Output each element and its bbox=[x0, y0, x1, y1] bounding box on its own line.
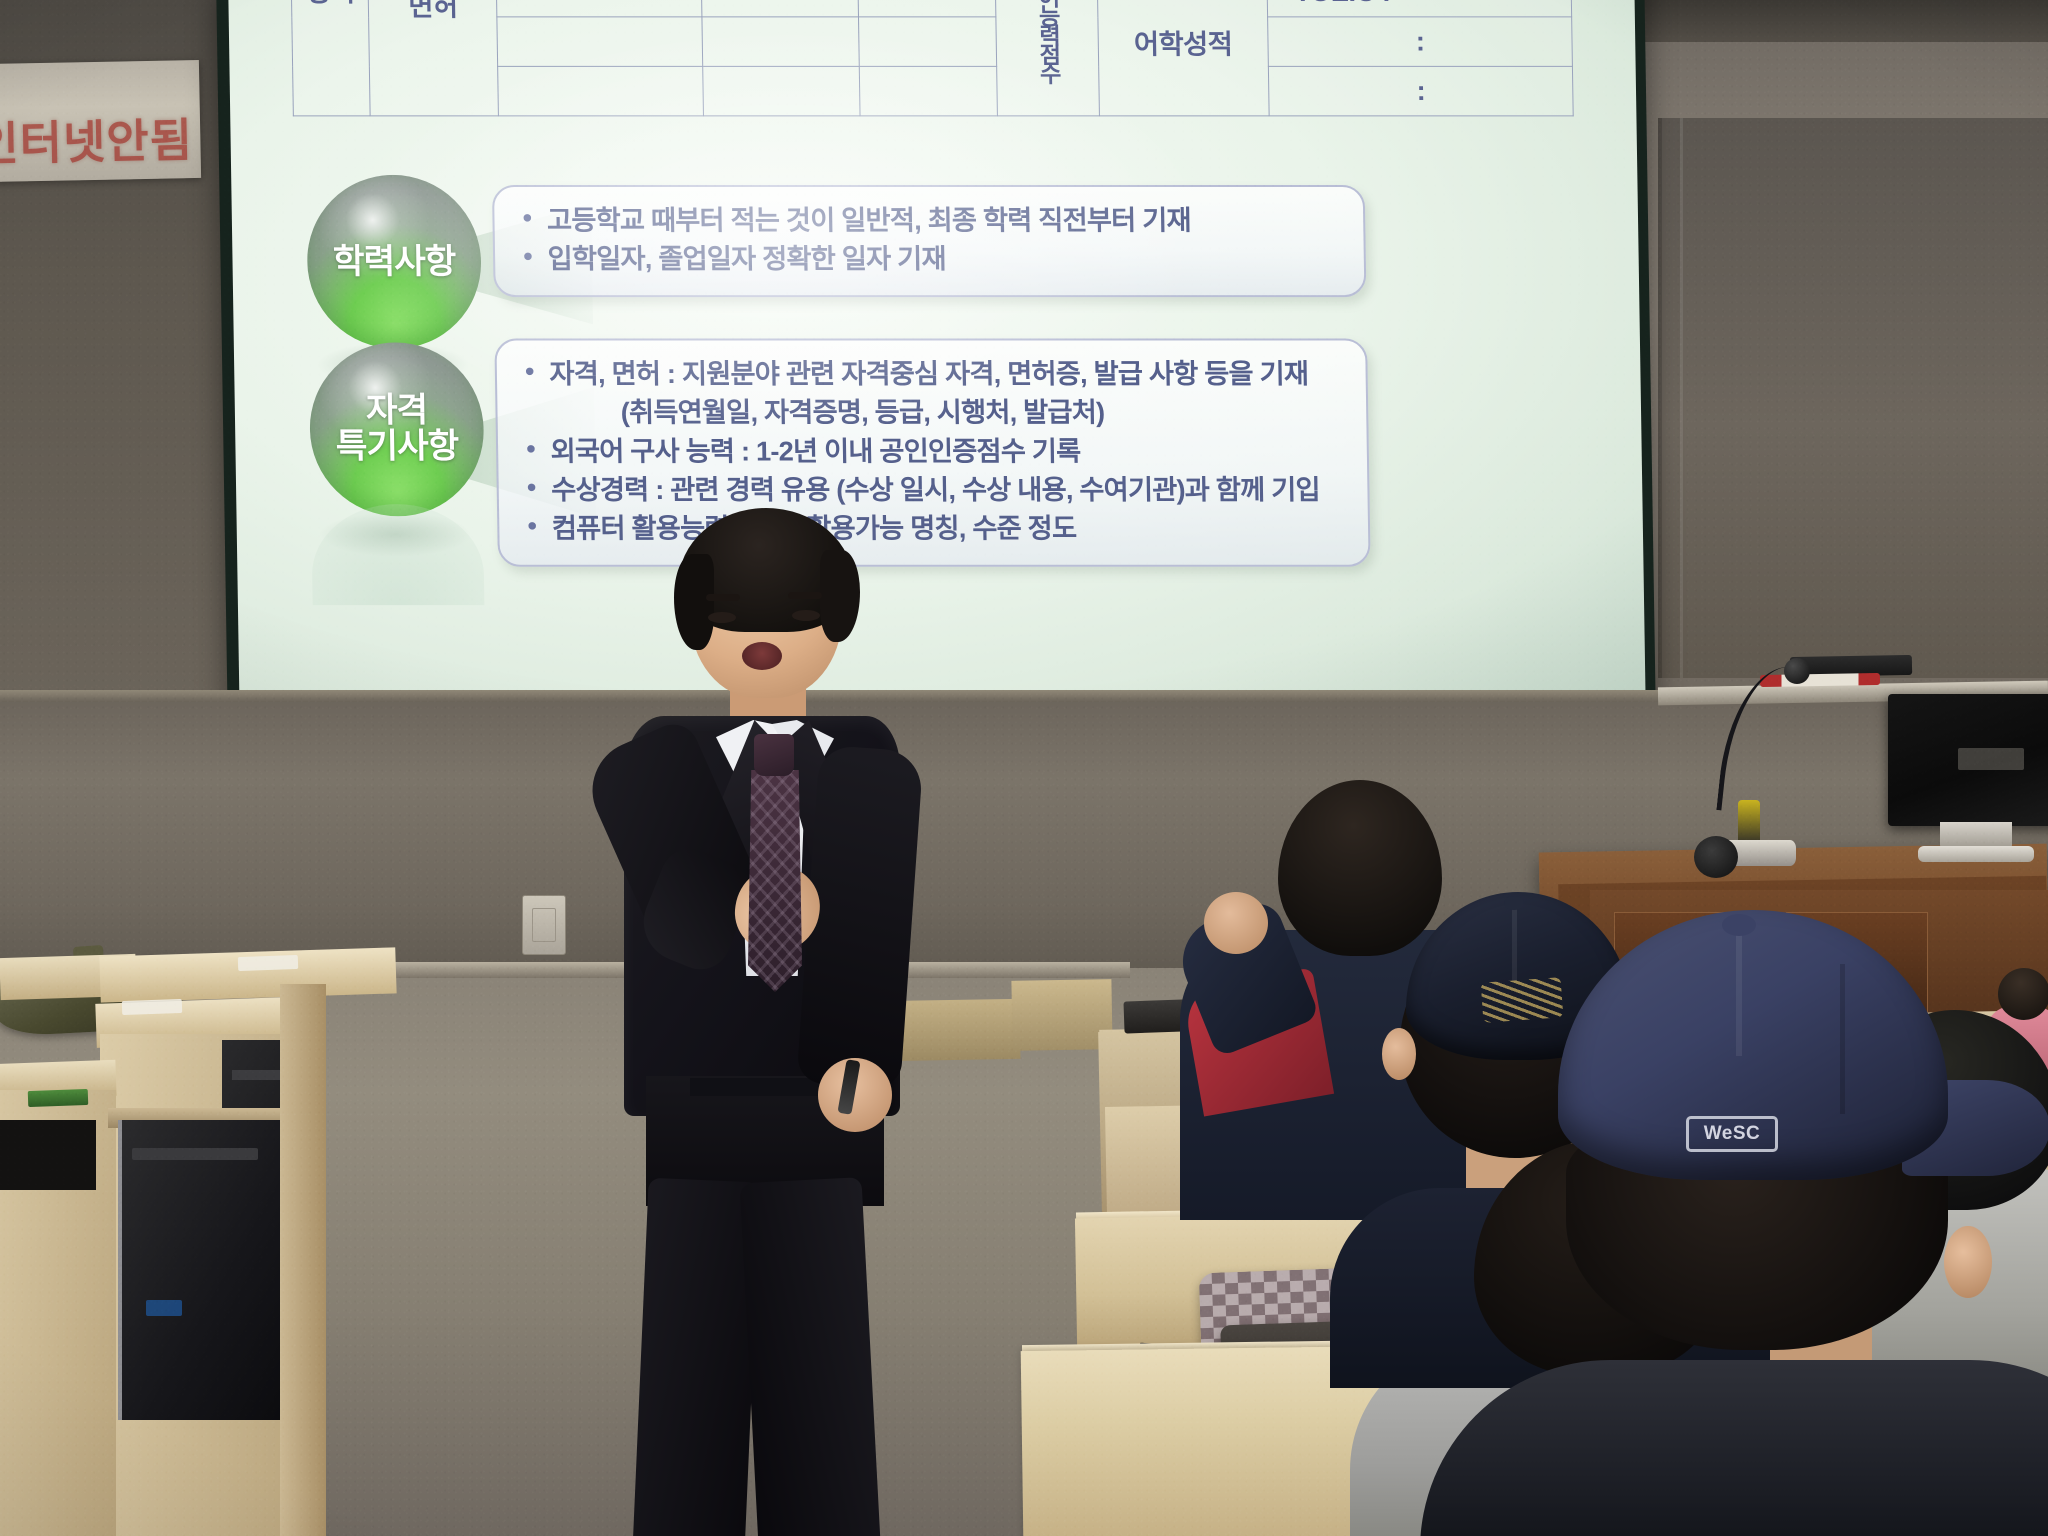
bubble-education-history-label: 학력사항 bbox=[333, 243, 456, 281]
desk-green-sticker bbox=[28, 1089, 89, 1107]
list-item: 고등학교 때부터 적는 것이 일반적, 최종 학력 직전부터 기재 bbox=[520, 201, 1341, 240]
table-cell-qual-1 bbox=[497, 0, 702, 17]
table-cell-date-1 bbox=[701, 0, 859, 17]
cap-brand-patch: WeSC bbox=[1686, 1116, 1778, 1152]
cap-brand-patch-label: WeSC bbox=[1704, 1123, 1761, 1145]
presenter-eyebrow-left bbox=[706, 594, 740, 601]
presenter-eye-right bbox=[792, 610, 820, 621]
list-item: (취득연월일, 자격증명, 등급, 시행처, 발급처) bbox=[523, 393, 1344, 432]
left-desk-front-panel bbox=[280, 984, 326, 1536]
table-cell-date-2 bbox=[701, 17, 859, 66]
desk-pc-cavity-b bbox=[0, 1120, 96, 1190]
presenter-hair-right bbox=[820, 550, 860, 642]
resume-form-table: 성적 자격 면허 년 월 대학원 전공 졸업(예정, 수료) 자격명 bbox=[289, 0, 1574, 116]
list-item: 외국어 구사 능력 : 1-2년 이내 공인인증점수 기록 bbox=[524, 432, 1345, 471]
desk-label-sticker-1 bbox=[122, 999, 182, 1015]
tower-pc-left-badge bbox=[146, 1300, 182, 1316]
bubble-education-history: 학력사항 bbox=[306, 175, 482, 349]
presenter-eye-left bbox=[708, 612, 736, 623]
monitor-base bbox=[1918, 846, 2034, 862]
table-cell-toeic: TOEIC : bbox=[1267, 0, 1571, 17]
presenter-leg-right bbox=[740, 1177, 883, 1536]
wall-power-outlet bbox=[522, 895, 566, 955]
bubble-qualifications: 자격 특기사항 bbox=[309, 343, 485, 517]
microphone-windscreen bbox=[1694, 836, 1738, 878]
presenter-eyebrow-right bbox=[788, 592, 822, 599]
bubble-qualifications-label: 자격 특기사항 bbox=[335, 393, 458, 465]
projection-screen: 성적 자격 면허 년 월 대학원 전공 졸업(예정, 수료) 자격명 bbox=[228, 0, 1645, 729]
student-d-ear bbox=[1944, 1226, 1992, 1298]
student-b-ear bbox=[1382, 1028, 1416, 1080]
table-cell-score-3: : bbox=[1269, 66, 1573, 115]
wall-seam bbox=[1658, 118, 1662, 678]
table-cell-qual-3 bbox=[498, 66, 703, 115]
tower-pc-left bbox=[118, 1120, 280, 1420]
list-item: 입학일자, 졸업일자 정확한 일자 기재 bbox=[521, 240, 1342, 279]
callout-education-history: 고등학교 때부터 적는 것이 일반적, 최종 학력 직전부터 기재 입학일자, … bbox=[492, 185, 1367, 297]
callout-education-history-list: 고등학교 때부터 적는 것이 일반적, 최종 학력 직전부터 기재 입학일자, … bbox=[520, 201, 1341, 278]
table-cell-row-label-inner: 자격 면허 bbox=[367, 0, 499, 116]
presenter-tie-knot bbox=[754, 734, 794, 776]
list-item: 수상경력 : 관련 경력 유용 (수상 일시, 수상 내용, 수여기관)과 함께… bbox=[525, 471, 1346, 510]
cap-seam-side bbox=[1840, 964, 1845, 1114]
presenter bbox=[590, 520, 930, 1536]
student-a-hand bbox=[1204, 892, 1268, 954]
table-cell-agency-3 bbox=[859, 66, 998, 115]
student-d-torso bbox=[1420, 1360, 2048, 1536]
table-cell-row-label-outer: 성적 bbox=[289, 0, 370, 116]
left-desk-top-c bbox=[99, 947, 396, 1002]
tower-pc-left-drive bbox=[132, 1148, 258, 1160]
right-wall-panel bbox=[1658, 118, 2048, 678]
student-a-head bbox=[1278, 780, 1442, 956]
cap-embroidered-logo bbox=[1481, 977, 1564, 1022]
table-cell-agency-2 bbox=[858, 17, 997, 66]
table-cell-agency-1 bbox=[857, 0, 996, 17]
cap-top-button bbox=[1722, 914, 1756, 936]
table-cell-score-2: : bbox=[1268, 17, 1572, 66]
list-item: 자격, 면허 : 지원분야 관련 자격중심 자격, 면허증, 발급 사항 등을 … bbox=[523, 355, 1344, 394]
screenshot-root: 인터넷안됨 성적 자격 면허 년 월 대학원 bbox=[0, 0, 2048, 1536]
cap-top-button bbox=[1504, 896, 1524, 910]
cap-seam-front bbox=[1736, 926, 1742, 1056]
presenter-mouth bbox=[742, 642, 782, 670]
projection-screen-frame: 성적 자격 면허 년 월 대학원 전공 졸업(예정, 수료) 자격명 bbox=[216, 0, 1656, 741]
desk-label-sticker-2 bbox=[238, 955, 298, 971]
slide-content: 성적 자격 면허 년 월 대학원 전공 졸업(예정, 수료) 자격명 bbox=[228, 0, 1645, 729]
table-cell-language-score-label: 어학성적 bbox=[1097, 0, 1270, 116]
cap-seam bbox=[1512, 902, 1517, 982]
internet-unavailable-sign: 인터넷안됨 bbox=[0, 60, 201, 182]
presenter-necktie bbox=[748, 770, 802, 992]
desktop-monitor bbox=[1888, 694, 2048, 826]
table-cell-qual-2 bbox=[497, 17, 702, 66]
student-f-head bbox=[1998, 968, 2048, 1020]
presenter-hair-left bbox=[674, 554, 714, 650]
internet-unavailable-sign-text: 인터넷안됨 bbox=[0, 104, 194, 174]
table-cell-date-3 bbox=[702, 66, 860, 115]
microphone-icon bbox=[1784, 658, 1810, 684]
table-cell-foreign-language-score-vertical: 외국어능력점수 bbox=[995, 0, 1100, 116]
